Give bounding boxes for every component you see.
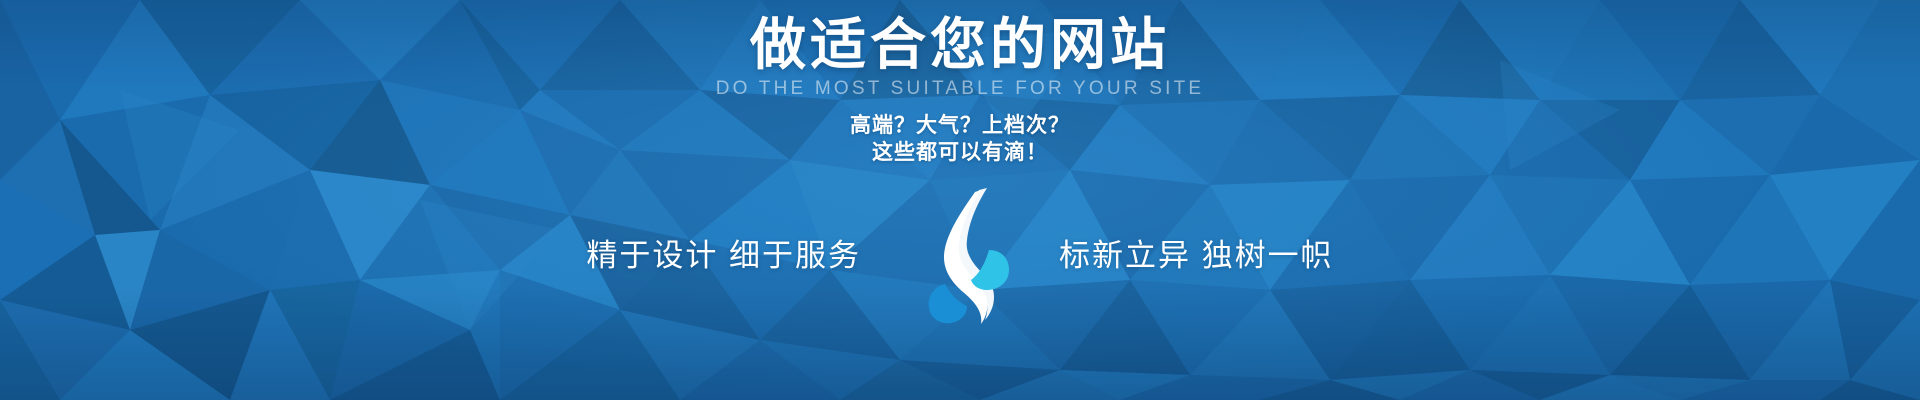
bottom-phrase-right: 标新立异 独树一帜 [1015, 236, 1359, 276]
hero-banner: 做适合您的网站 DO THE MOST SUITABLE FOR YOUR SI… [0, 0, 1920, 400]
banner-main-title: 做适合您的网站 [750, 14, 1170, 76]
slogan-line-1: 高端？大气？上档次？ [850, 112, 1070, 139]
swoosh-leaf-logo-icon [905, 188, 1015, 328]
banner-bottom-row: 精于设计 细于服务 标新立异 独树一帜 [0, 184, 1920, 328]
swoosh-leaf-logo [905, 188, 1015, 328]
banner-subtitle-english: DO THE MOST SUITABLE FOR YOUR SITE [716, 77, 1205, 101]
banner-slogan-block: 高端？大气？上档次？ 这些都可以有滴！ [850, 112, 1070, 166]
bottom-phrase-left: 精于设计 细于服务 [561, 236, 905, 276]
slogan-line-2: 这些都可以有滴！ [850, 139, 1070, 166]
banner-content: 做适合您的网站 DO THE MOST SUITABLE FOR YOUR SI… [0, 0, 1920, 400]
